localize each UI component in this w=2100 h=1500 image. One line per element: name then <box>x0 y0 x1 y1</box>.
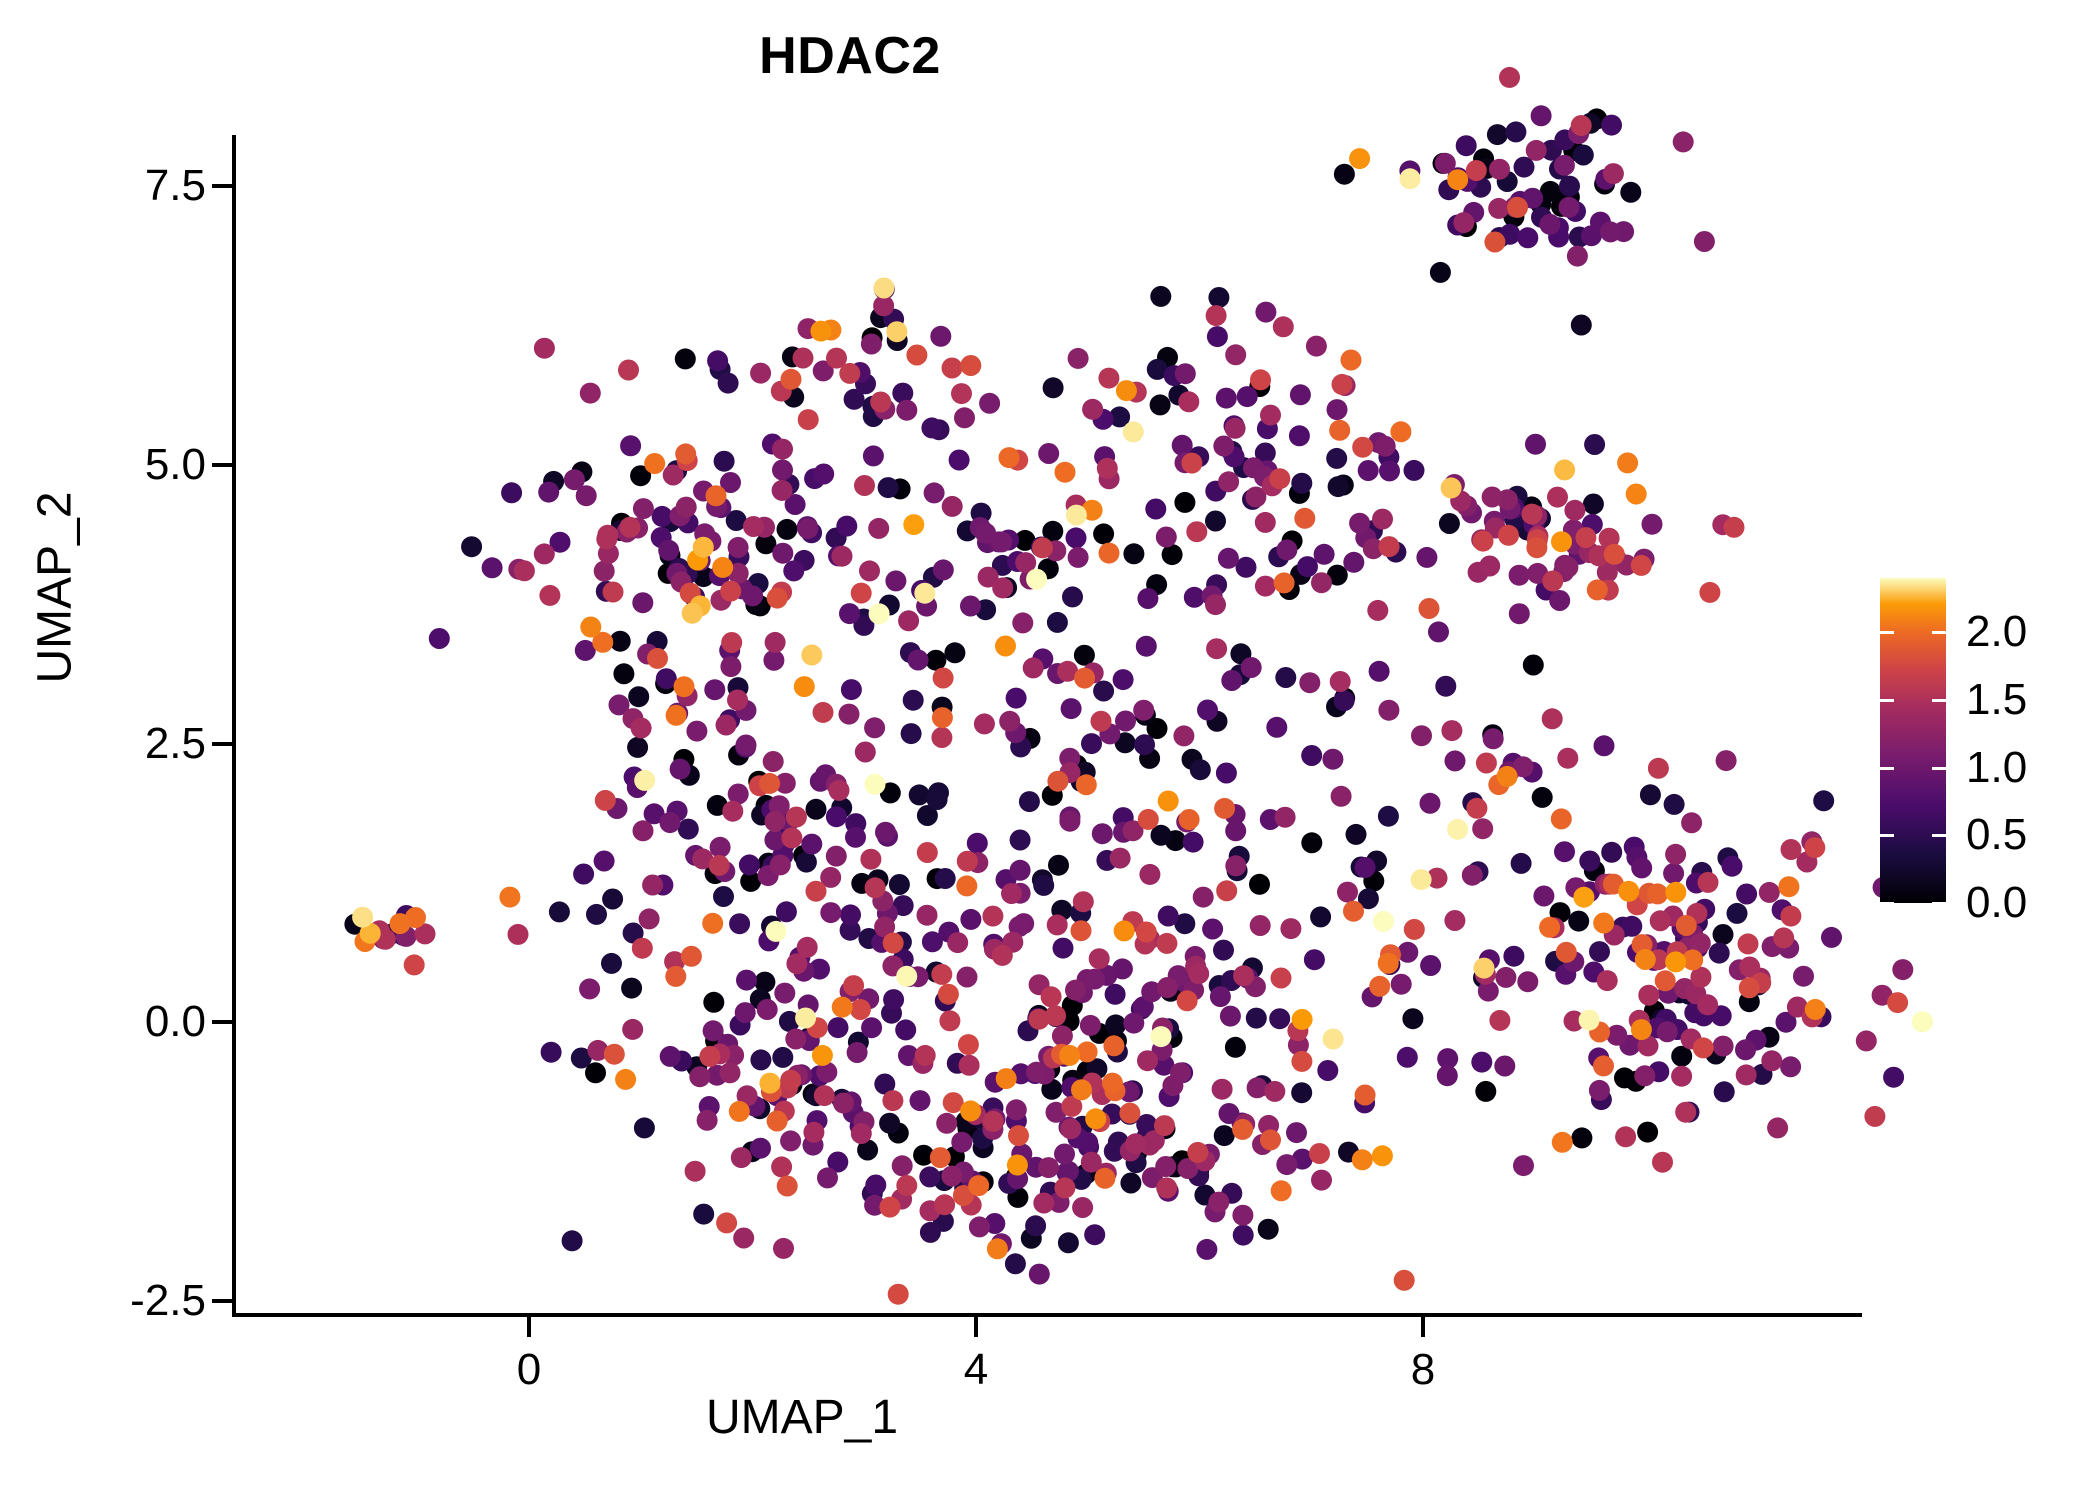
scatter-point <box>801 834 822 855</box>
scatter-point <box>1242 489 1263 510</box>
scatter-point <box>1092 823 1113 844</box>
scatter-point <box>1181 453 1202 474</box>
scatter-point <box>1632 934 1653 955</box>
scatter-point <box>931 964 952 985</box>
scatter-point <box>1333 475 1354 496</box>
scatter-point <box>1523 514 1544 535</box>
scatter-point <box>1112 958 1133 979</box>
y-axis-line <box>232 135 236 1317</box>
scatter-point <box>756 795 777 816</box>
scatter-point <box>697 1110 718 1131</box>
scatter-point <box>1082 399 1103 420</box>
scatter-point <box>1618 881 1639 902</box>
scatter-point <box>1286 1122 1307 1143</box>
scatter-point <box>985 1072 1006 1093</box>
scatter-point <box>1158 906 1179 927</box>
scatter-point <box>1255 302 1276 323</box>
scatter-point <box>917 842 938 863</box>
scatter-point <box>1686 873 1707 894</box>
scatter-point <box>731 1147 752 1168</box>
scatter-point <box>1722 856 1743 877</box>
scatter-point <box>1557 557 1578 578</box>
legend-tick <box>1932 631 1946 634</box>
scatter-point <box>1072 1116 1093 1137</box>
scatter-point <box>983 1111 1004 1132</box>
scatter-point <box>1162 544 1183 565</box>
scatter-point <box>1525 434 1546 455</box>
scatter-point <box>815 764 836 785</box>
scatter-point <box>1047 612 1068 633</box>
scatter-point <box>1647 1017 1668 1038</box>
scatter-point <box>1514 157 1535 178</box>
scatter-point <box>1188 446 1209 467</box>
scatter-point <box>841 679 862 700</box>
scatter-point <box>763 650 784 671</box>
y-tick-mark <box>212 1020 232 1024</box>
scatter-point <box>1165 1156 1186 1177</box>
scatter-point <box>1714 1081 1735 1102</box>
scatter-point <box>1773 927 1794 948</box>
scatter-point <box>1583 962 1604 983</box>
scatter-point <box>1104 1141 1125 1162</box>
scatter-point <box>1031 537 1052 558</box>
scatter-point <box>1821 927 1842 948</box>
scatter-point <box>779 1011 800 1032</box>
scatter-point <box>1687 937 1708 958</box>
scatter-point <box>826 528 847 549</box>
scatter-point <box>969 1216 990 1237</box>
scatter-point <box>1626 847 1647 868</box>
scatter-point <box>607 798 628 819</box>
scatter-point <box>1299 672 1320 693</box>
scatter-point <box>1018 1020 1039 1041</box>
scatter-point <box>820 320 841 341</box>
scatter-point <box>1054 1046 1075 1067</box>
scatter-point <box>906 345 927 366</box>
scatter-point <box>1517 520 1538 541</box>
scatter-point <box>1729 959 1750 980</box>
scatter-point <box>861 1017 882 1038</box>
scatter-point <box>1805 999 1826 1020</box>
scatter-point <box>858 928 879 949</box>
scatter-point <box>992 555 1013 576</box>
scatter-point <box>780 1070 801 1091</box>
scatter-point <box>1089 948 1110 969</box>
scatter-point <box>594 561 615 582</box>
scatter-point <box>1544 917 1565 938</box>
scatter-point <box>1266 717 1287 738</box>
scatter-point <box>1579 881 1600 902</box>
scatter-point <box>1526 506 1547 527</box>
scatter-point <box>562 1230 583 1251</box>
scatter-point <box>1687 912 1708 933</box>
scatter-point <box>514 560 535 581</box>
scatter-point <box>831 797 852 818</box>
scatter-point <box>941 1166 962 1187</box>
scatter-point <box>951 1132 972 1153</box>
scatter-point <box>647 648 668 669</box>
scatter-point <box>772 460 793 481</box>
scatter-point <box>375 929 396 950</box>
scatter-point <box>1521 504 1542 525</box>
scatter-point <box>1533 886 1554 907</box>
scatter-point <box>728 563 749 584</box>
scatter-point <box>1691 862 1712 883</box>
scatter-point <box>839 603 860 624</box>
scatter-point <box>1205 594 1226 615</box>
y-tick-label: 2.5 <box>46 719 206 769</box>
scatter-point <box>748 573 769 594</box>
scatter-point <box>1488 198 1509 219</box>
scatter-point <box>1545 951 1566 972</box>
scatter-point <box>939 1010 960 1031</box>
scatter-point <box>1007 1187 1028 1208</box>
scatter-point <box>845 827 866 848</box>
scatter-point <box>828 545 849 566</box>
scatter-point <box>1581 225 1602 246</box>
scatter-point <box>1002 932 1023 953</box>
scatter-point <box>783 560 804 581</box>
scatter-point <box>1232 1119 1253 1140</box>
scatter-point <box>1062 995 1083 1016</box>
scatter-point <box>1213 436 1234 457</box>
scatter-point <box>1139 1135 1160 1156</box>
legend-label: 2.0 <box>1966 607 2027 657</box>
scatter-point <box>1214 1125 1235 1146</box>
scatter-point <box>1115 732 1136 753</box>
scatter-point <box>666 705 687 726</box>
scatter-point <box>1061 1077 1082 1098</box>
scatter-point <box>1282 530 1303 551</box>
scatter-point <box>929 419 950 440</box>
scatter-point <box>673 749 694 770</box>
scatter-point <box>1258 1219 1279 1240</box>
scatter-point <box>1317 1060 1338 1081</box>
scatter-point <box>1071 771 1092 792</box>
scatter-point <box>1139 864 1160 885</box>
scatter-point <box>740 871 761 892</box>
scatter-point <box>1216 880 1237 901</box>
scatter-point <box>982 1119 1003 1140</box>
scatter-point <box>1651 1009 1672 1030</box>
scatter-point <box>1066 495 1087 516</box>
scatter-point <box>633 498 654 519</box>
scatter-point <box>898 610 919 631</box>
scatter-point <box>429 628 450 649</box>
scatter-point <box>1131 999 1152 1020</box>
scatter-point <box>1621 916 1642 937</box>
scatter-point <box>652 506 673 527</box>
scatter-point <box>1077 1041 1098 1062</box>
scatter-point <box>920 1222 941 1243</box>
scatter-point <box>1043 1047 1064 1068</box>
scatter-point <box>681 946 702 967</box>
scatter-point <box>1115 711 1136 732</box>
legend-label: 0.5 <box>1966 810 2027 860</box>
scatter-point <box>1390 421 1411 442</box>
scatter-point <box>942 496 963 517</box>
scatter-point <box>813 702 834 723</box>
scatter-point <box>973 1171 994 1192</box>
scatter-point <box>885 570 906 591</box>
scatter-point <box>840 920 861 941</box>
scatter-point <box>1615 1126 1636 1147</box>
scatter-point <box>736 735 757 756</box>
scatter-point <box>780 1130 801 1151</box>
scatter-point <box>1010 830 1031 851</box>
scatter-point <box>754 972 775 993</box>
scatter-point <box>639 908 660 929</box>
scatter-point <box>1402 1008 1423 1029</box>
scatter-point <box>847 1042 868 1063</box>
scatter-point <box>1328 476 1349 497</box>
scatter-point <box>1070 903 1091 924</box>
scatter-point <box>1603 163 1624 184</box>
scatter-point <box>685 845 706 866</box>
scatter-point <box>642 875 663 896</box>
scatter-point <box>1057 661 1078 682</box>
scatter-point <box>1667 941 1688 962</box>
scatter-point <box>611 513 632 534</box>
scatter-point <box>933 1211 954 1232</box>
scatter-point <box>807 1110 828 1131</box>
scatter-point <box>864 1195 885 1216</box>
scatter-point <box>1627 942 1648 963</box>
scatter-point <box>1058 1161 1079 1182</box>
scatter-point <box>855 742 876 763</box>
scatter-point <box>1236 557 1257 578</box>
scatter-point <box>826 806 847 827</box>
legend-label: 1.0 <box>1966 743 2027 793</box>
scatter-point <box>1271 968 1292 989</box>
scatter-point <box>1475 1081 1496 1102</box>
scatter-point <box>1648 1061 1669 1082</box>
scatter-point <box>1072 1197 1093 1218</box>
scatter-point <box>1671 1046 1692 1067</box>
scatter-point <box>666 460 687 481</box>
scatter-point <box>1207 711 1228 732</box>
scatter-point <box>541 1042 562 1063</box>
scatter-point <box>958 1034 979 1055</box>
scatter-point <box>1619 1035 1640 1056</box>
scatter-point <box>1456 135 1477 156</box>
scatter-point <box>785 1029 806 1050</box>
scatter-point <box>1208 1192 1229 1213</box>
scatter-point <box>854 1111 875 1132</box>
scatter-point <box>843 975 864 996</box>
scatter-point <box>1497 766 1518 787</box>
scatter-point <box>1026 1157 1047 1178</box>
scatter-point <box>1476 158 1497 179</box>
scatter-point <box>832 997 853 1018</box>
scatter-point <box>594 851 615 872</box>
scatter-point <box>1735 1039 1756 1060</box>
scatter-point <box>1057 1162 1078 1183</box>
scatter-point <box>938 984 959 1005</box>
scatter-point <box>709 855 730 876</box>
scatter-point <box>924 482 945 503</box>
scatter-point <box>482 557 503 578</box>
scatter-point <box>1639 883 1660 904</box>
scatter-point <box>1521 496 1542 517</box>
scatter-point <box>1059 1011 1080 1032</box>
scatter-point <box>988 531 1009 552</box>
scatter-point <box>1582 514 1603 535</box>
scatter-point <box>1503 753 1524 774</box>
scatter-point <box>630 465 651 486</box>
scatter-points-layer <box>0 0 2100 1500</box>
scatter-point <box>718 373 739 394</box>
scatter-point <box>1447 169 1468 190</box>
scatter-point <box>1378 447 1399 468</box>
scatter-point <box>1573 887 1594 908</box>
scatter-point <box>975 523 996 544</box>
scatter-point <box>1447 819 1468 840</box>
scatter-point <box>1463 202 1484 223</box>
scatter-point <box>1206 305 1227 326</box>
scatter-point <box>1096 1163 1117 1184</box>
scatter-point <box>1134 734 1155 755</box>
scatter-point <box>1174 913 1195 934</box>
scatter-point <box>833 1093 854 1114</box>
scatter-point <box>745 594 766 615</box>
scatter-point <box>1176 811 1197 832</box>
scatter-point <box>1586 108 1607 129</box>
scatter-point <box>1066 505 1087 526</box>
scatter-point <box>712 557 733 578</box>
scatter-point <box>1379 460 1400 481</box>
scatter-point <box>595 790 616 811</box>
scatter-point <box>693 537 714 558</box>
scatter-point <box>1194 1185 1215 1206</box>
scatter-point <box>893 895 914 916</box>
scatter-point <box>1028 1005 1049 1026</box>
scatter-point <box>1540 181 1561 202</box>
scatter-point <box>628 686 649 707</box>
scatter-point <box>883 989 904 1010</box>
scatter-point <box>1066 527 1087 548</box>
scatter-point <box>959 1055 980 1076</box>
scatter-point <box>1262 475 1283 496</box>
scatter-point <box>1060 1118 1081 1139</box>
scatter-point <box>1172 435 1193 456</box>
scatter-point <box>911 580 932 601</box>
scatter-point <box>1190 759 1211 780</box>
scatter-point <box>1665 882 1686 903</box>
scatter-point <box>736 700 757 721</box>
scatter-point <box>1179 809 1200 830</box>
scatter-point <box>1682 924 1703 945</box>
scatter-point <box>744 1096 765 1117</box>
scatter-point <box>1077 1061 1098 1082</box>
scatter-point <box>1679 984 1700 1005</box>
scatter-point <box>781 369 802 390</box>
scatter-point <box>1045 1006 1066 1027</box>
scatter-point <box>1579 851 1600 872</box>
scatter-point <box>1047 771 1068 792</box>
scatter-point <box>1123 1013 1144 1034</box>
scatter-point <box>803 1122 824 1143</box>
scatter-point <box>1032 537 1053 558</box>
scatter-point <box>998 1173 1019 1194</box>
scatter-point <box>1444 474 1465 495</box>
scatter-point <box>1648 943 1669 964</box>
scatter-point <box>1066 755 1087 776</box>
scatter-point <box>1093 523 1114 544</box>
scatter-point <box>571 461 592 482</box>
scatter-point <box>813 360 834 381</box>
scatter-point <box>1237 386 1258 407</box>
scatter-point <box>812 1045 833 1066</box>
scatter-point <box>877 903 898 924</box>
scatter-point <box>1081 733 1102 754</box>
scatter-point <box>1532 787 1553 808</box>
scatter-point <box>843 1102 864 1123</box>
scatter-point <box>1157 347 1178 368</box>
scatter-point <box>1205 1201 1226 1222</box>
scatter-point <box>916 596 937 617</box>
scatter-point <box>933 668 954 689</box>
scatter-point <box>644 803 665 824</box>
scatter-point <box>1273 316 1294 337</box>
scatter-point <box>1761 1050 1782 1071</box>
scatter-point <box>1119 1104 1140 1125</box>
scatter-point <box>1595 874 1616 895</box>
scatter-point <box>1290 564 1311 585</box>
legend-tick <box>1880 631 1894 634</box>
scatter-point <box>984 1213 1005 1234</box>
scatter-point <box>972 1128 993 1149</box>
scatter-point <box>1096 965 1117 986</box>
scatter-point <box>1010 860 1031 881</box>
scatter-point <box>737 1085 758 1106</box>
scatter-point <box>1280 918 1301 939</box>
scatter-point <box>766 921 787 942</box>
scatter-point <box>820 902 841 923</box>
scatter-point <box>1162 1027 1183 1048</box>
scatter-point <box>1411 725 1432 746</box>
scatter-point <box>896 966 917 987</box>
scatter-point <box>1499 224 1520 245</box>
scatter-point <box>352 907 373 928</box>
scatter-point <box>799 1030 820 1051</box>
scatter-point <box>786 807 807 828</box>
scatter-point <box>1569 544 1590 565</box>
scatter-point <box>1089 1023 1110 1044</box>
scatter-point <box>693 566 714 587</box>
scatter-point <box>735 737 756 758</box>
scatter-point <box>1690 967 1711 988</box>
scatter-point <box>1249 874 1270 895</box>
scatter-point <box>602 889 623 910</box>
scatter-point <box>1233 1225 1254 1246</box>
scatter-point <box>703 1020 724 1041</box>
scatter-point <box>1673 131 1694 152</box>
scatter-point <box>887 330 908 351</box>
scatter-point <box>1507 197 1528 218</box>
scatter-point <box>1042 521 1063 542</box>
scatter-point <box>1694 231 1715 252</box>
scatter-point <box>938 922 959 943</box>
scatter-point <box>1051 1044 1072 1065</box>
scatter-point <box>908 650 929 671</box>
scatter-point <box>1116 380 1137 401</box>
scatter-point <box>806 881 827 902</box>
scatter-point <box>1044 1187 1065 1208</box>
scatter-point <box>1634 1065 1655 1086</box>
legend-colorbar <box>1880 578 1946 903</box>
scatter-point <box>1681 1028 1702 1049</box>
